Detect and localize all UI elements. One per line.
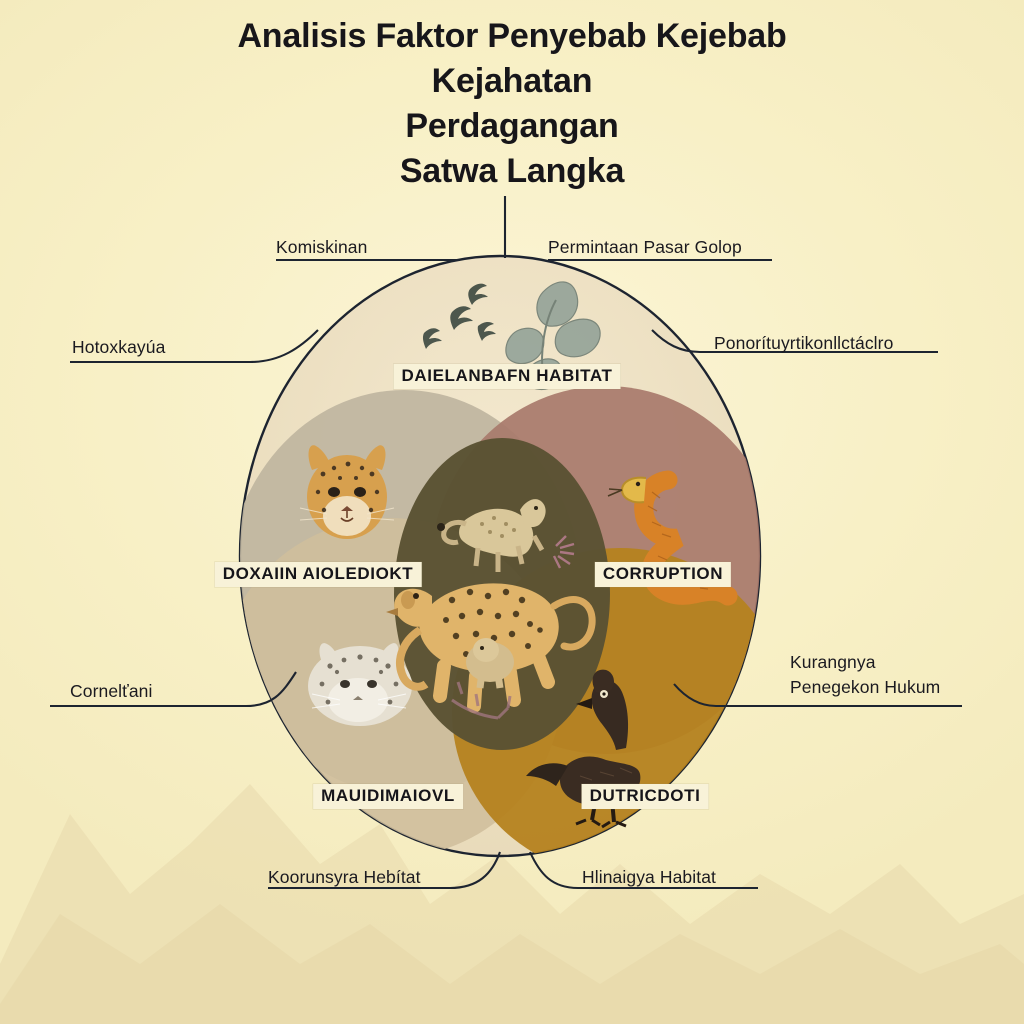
callout-label-ponorituyrtikonllctaclro: Ponorítuyrtikonllctáclro — [714, 332, 893, 355]
callout-label-komiskinan: Komiskinan — [276, 236, 367, 259]
callout-label-kurangnya-penegakan-hukum: Kurangnya Penegekon Hukum — [790, 650, 940, 701]
title-line-1: Analisis Faktor Penyebab Kejebab — [150, 14, 874, 59]
region-label-right: CORRUPTION — [595, 562, 731, 587]
callout-label-permintaan-pasar-gelap: Permintaan Pasar Golop — [548, 236, 742, 259]
region-label-left: DOXAIIN AIOLEDIOKT — [215, 562, 422, 587]
region-label-bottom-right: DUTRICDOTI — [582, 784, 709, 809]
poster-canvas: Analisis Faktor Penyebab Kejebab Kejahat… — [0, 0, 1024, 1024]
callout-label-hlinaigya-habitat: Hlinaigya Habitat — [582, 866, 716, 889]
callout-label-cornelcani: Cornelťani — [70, 680, 152, 703]
page-title: Analisis Faktor Penyebab Kejebab Kejahat… — [150, 14, 874, 194]
callout-label-hotoxkayua: Hotoxkayúa — [72, 336, 165, 359]
title-line-4: Satwa Langka — [150, 149, 874, 194]
region-label-bottom-left: MAUIDIMAIOVL — [313, 784, 463, 809]
title-line-3: Perdagangan — [150, 104, 874, 149]
snow-leopard-illustration — [308, 643, 412, 726]
callout-label-koorunsyra-hebitat: Koorunsyra Hebítat — [268, 866, 421, 889]
region-label-top: DAIELANBAFN HABITAT — [394, 364, 621, 389]
title-line-2: Kejahatan — [150, 59, 874, 104]
